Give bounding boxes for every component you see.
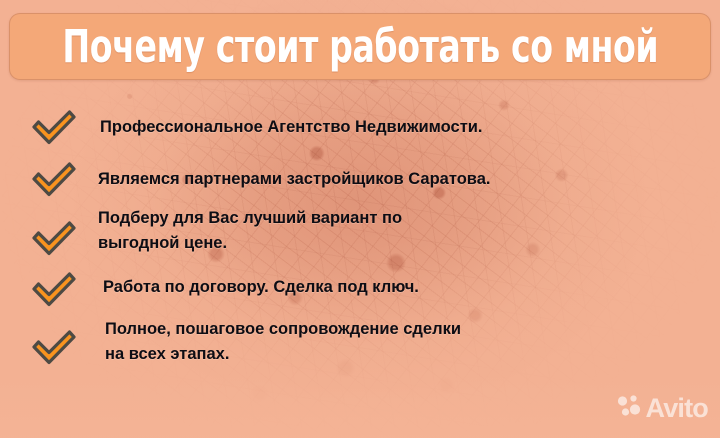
- checkmark-icon: [30, 107, 78, 153]
- list-item: Профессиональное Агентство Недвижимости.: [30, 107, 690, 140]
- checkmark-icon: [30, 218, 78, 264]
- list-item: Подберу для Вас лучший вариант по выгодн…: [30, 206, 690, 256]
- header-banner: Почему стоит работать со мной: [9, 13, 711, 80]
- checkmark-icon: [30, 269, 78, 315]
- avito-wordmark: Avito: [646, 395, 709, 422]
- poster-title: Почему стоит работать со мной: [62, 24, 658, 69]
- list-item: Являемся партнерами застройщиков Саратов…: [30, 159, 690, 192]
- list-item-label: Подберу для Вас лучший вариант по выгодн…: [98, 206, 402, 256]
- checkmark-icon: [30, 159, 78, 205]
- list-item-label: Работа по договору. Сделка под ключ.: [103, 275, 419, 300]
- checkmark-icon: [30, 327, 78, 373]
- list-item: Полное, пошаговое сопровождение сделки н…: [30, 317, 690, 367]
- list-item-label: Являемся партнерами застройщиков Саратов…: [98, 167, 490, 192]
- promo-poster: Почему стоит работать со мной Профессион…: [0, 0, 720, 438]
- list-item-label: Полное, пошаговое сопровождение сделки н…: [105, 317, 461, 367]
- list-item: Работа по договору. Сделка под ключ.: [30, 269, 690, 300]
- avito-watermark: Avito: [616, 393, 709, 424]
- avito-dots-icon: [616, 393, 642, 424]
- list-item-label: Профессиональное Агентство Недвижимости.: [100, 115, 483, 140]
